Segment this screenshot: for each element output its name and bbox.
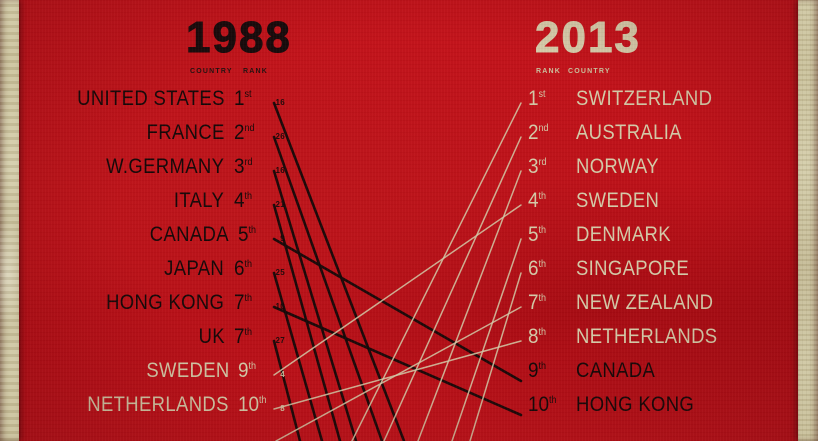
rank-value: 2nd [528,122,559,143]
list-item[interactable]: SWEDEN9th4 [60,360,285,394]
year-heading-2013: 2013 [535,16,641,60]
rank-ordinal-suffix: th [244,327,252,338]
ranking-list-1988: UNITED STATES1st16FRANCE2nd26W.GERMANY3r… [60,88,285,428]
list-item[interactable]: 3rdNORWAY [528,156,778,190]
rank-value: 10th [528,394,559,415]
country-name: ITALY [174,190,224,211]
rank-value: 3rd [234,156,265,177]
country-name: HONG KONG [106,292,224,313]
rank-value: 8th [528,326,559,347]
right-header-rank-label: RANK [536,68,561,75]
list-item[interactable]: 6thSINGAPORE [528,258,778,292]
left-header-country-label: COUNTRY [190,68,233,75]
rank-ordinal-suffix: th [244,191,252,202]
list-item[interactable]: 8thNETHERLANDS [528,326,778,360]
rank-ordinal-suffix: st [244,89,251,100]
country-name: JAPAN [165,258,225,279]
country-name: SWEDEN [146,360,229,381]
right-header-country-label: COUNTRY [568,68,611,75]
rank-number: 3 [528,155,539,178]
rank-value: 6th [234,258,265,279]
rank-number: 3 [234,155,245,178]
rank-value: 6th [528,258,559,279]
rank-ordinal-suffix: th [244,259,252,270]
country-name: W.GERMANY [106,156,224,177]
rank-number: 6 [528,257,539,280]
rank-number: 1 [234,87,245,110]
rank-number: 7 [234,291,245,314]
country-name: SINGAPORE [576,258,689,279]
rank-ordinal-suffix: th [539,259,547,270]
country-name: CANADA [150,224,229,245]
score-value: 10 [276,302,286,311]
score-value: 16 [276,98,286,107]
list-item[interactable]: ITALY4th21 [60,190,285,224]
rank-number: 7 [234,325,245,348]
list-item[interactable]: 7thNEW ZEALAND [528,292,778,326]
paper-edge-right [798,0,818,441]
country-name: UK [198,326,224,347]
country-name: NEW ZEALAND [576,292,713,313]
rank-number: 10 [238,393,259,416]
rank-value: 4th [528,190,559,211]
rank-value: 2nd [234,122,265,143]
rank-number: 4 [234,189,245,212]
list-item[interactable]: NETHERLANDS10th8 [60,394,285,428]
rank-ordinal-suffix: th [539,293,547,304]
rank-value: 3rd [528,156,559,177]
rank-value: 4th [234,190,265,211]
rank-ordinal-suffix: rd [244,157,252,168]
rank-number: 7 [528,291,539,314]
ranking-list-2013: 1stSWITZERLAND2ndAUSTRALIA3rdNORWAY4thSW… [528,88,778,428]
rank-ordinal-suffix: th [539,225,547,236]
rank-value: 7th [234,326,265,347]
country-name: FRANCE [146,122,224,143]
rank-value: 7th [234,292,265,313]
infographic-poster: 1988 COUNTRY RANK 2013 RANK COUNTRY UNIT… [0,0,818,441]
score-value: 27 [276,336,286,345]
score-value: 9 [280,234,285,243]
score-value: 16 [276,166,286,175]
list-item[interactable]: 1stSWITZERLAND [528,88,778,122]
rank-value: 1st [528,88,559,109]
rank-ordinal-suffix: nd [244,123,254,134]
country-name: SWEDEN [576,190,659,211]
score-value: 8 [280,404,285,413]
rank-value: 9th [528,360,559,381]
country-name: UNITED STATES [77,88,225,109]
rank-number: 5 [238,223,249,246]
rank-number: 5 [528,223,539,246]
rank-ordinal-suffix: rd [539,157,547,168]
score-value: 26 [276,132,286,141]
rank-ordinal-suffix: th [249,361,257,372]
rank-value: 5th [528,224,559,245]
left-header-rank-label: RANK [243,68,268,75]
list-item[interactable]: UK7th27 [60,326,285,360]
rank-number: 2 [234,121,245,144]
connector-line [418,171,521,441]
list-item[interactable]: 4thSWEDEN [528,190,778,224]
paper-edge-left [0,0,19,441]
connector-line [352,103,521,441]
country-name: DENMARK [576,224,671,245]
rank-ordinal-suffix: th [259,395,267,406]
rank-value: 9th [238,360,269,381]
connector-line [276,307,521,441]
rank-value: 7th [528,292,559,313]
rank-number: 9 [528,359,539,382]
list-item[interactable]: W.GERMANY3rd16 [60,156,285,190]
list-item[interactable]: JAPAN6th25 [60,258,285,292]
rank-ordinal-suffix: th [549,395,557,406]
list-item[interactable]: FRANCE2nd26 [60,122,285,156]
year-heading-1988: 1988 [186,16,292,60]
rank-ordinal-suffix: th [539,361,547,372]
rank-ordinal-suffix: th [244,293,252,304]
rank-ordinal-suffix: nd [539,123,549,134]
rank-number: 9 [238,359,249,382]
country-name: NETHERLANDS [576,326,717,347]
rank-value: 10th [238,394,269,415]
list-item[interactable]: 10thHONG KONG [528,394,778,428]
list-item[interactable]: 5thDENMARK [528,224,778,258]
list-item[interactable]: 2ndAUSTRALIA [528,122,778,156]
rank-value: 5th [238,224,269,245]
score-value: 4 [280,370,285,379]
connector-line [384,137,521,441]
list-item[interactable]: CANADA5th9 [60,224,285,258]
country-name: SWITZERLAND [576,88,712,109]
rank-ordinal-suffix: th [249,225,257,236]
rank-number: 10 [528,393,549,416]
country-name: AUSTRALIA [576,122,682,143]
country-name: CANADA [576,360,655,381]
rank-value: 1st [234,88,265,109]
rank-number: 2 [528,121,539,144]
country-name: NETHERLANDS [88,394,229,415]
rank-number: 4 [528,189,539,212]
score-value: 25 [276,268,286,277]
list-item[interactable]: UNITED STATES1st16 [60,88,285,122]
score-value: 21 [276,200,286,209]
rank-number: 8 [528,325,539,348]
rank-ordinal-suffix: th [539,327,547,338]
rank-ordinal-suffix: st [539,89,546,100]
rank-number: 1 [528,87,539,110]
rank-number: 6 [234,257,245,280]
rank-ordinal-suffix: th [539,191,547,202]
list-item[interactable]: HONG KONG7th10 [60,292,285,326]
list-item[interactable]: 9thCANADA [528,360,778,394]
country-name: NORWAY [576,156,659,177]
country-name: HONG KONG [576,394,694,415]
